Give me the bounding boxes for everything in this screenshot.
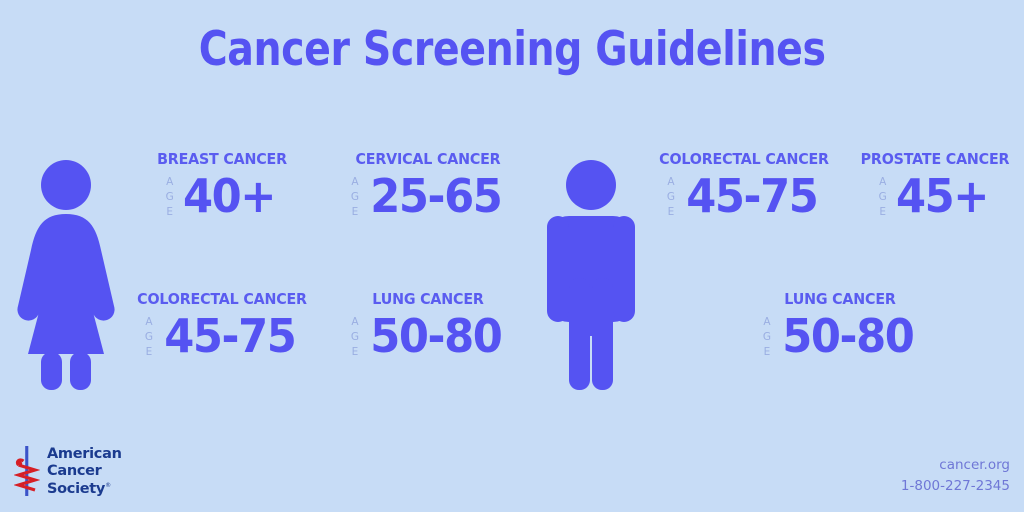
guideline-heading: LUNG CANCER <box>338 292 518 308</box>
page-title-text: Cancer Screening Guidelines <box>199 26 826 73</box>
trademark-mark: ® <box>105 482 111 489</box>
guideline-entry-lung-cancer-male: LUNG CANCER AGE 50-80 <box>740 292 940 360</box>
guideline-age-row: AGE 50-80 <box>740 313 940 361</box>
guideline-heading: CERVICAL CANCER <box>338 152 518 168</box>
male-guidelines-panel: COLORECTAL CANCER AGE 45-75 PROSTATE CAN… <box>644 152 1024 384</box>
guideline-heading: PROSTATE CANCER <box>853 152 1017 168</box>
phone-number[interactable]: 1-800-227-2345 <box>901 476 1010 497</box>
logo-line-1: American <box>47 446 122 463</box>
age-label: AGE <box>166 175 175 221</box>
sword-serpent-icon <box>14 444 40 500</box>
age-value: 50-80 <box>370 313 501 359</box>
guideline-heading: COLORECTAL CANCER <box>652 152 836 168</box>
age-value: 45-75 <box>164 313 295 359</box>
guideline-entry-cervical-cancer: CERVICAL CANCER AGE 25-65 <box>330 152 526 220</box>
guideline-entry-lung-cancer-female: LUNG CANCER AGE 50-80 <box>330 292 526 360</box>
age-label: AGE <box>879 175 888 221</box>
logo-line-3-text: Society <box>47 481 105 497</box>
logo-line-3: Society® <box>47 481 122 498</box>
guideline-entry-prostate-cancer: PROSTATE CANCER AGE 45+ <box>846 152 1024 220</box>
age-label: AGE <box>351 315 360 361</box>
website-link[interactable]: cancer.org <box>901 455 1010 476</box>
guideline-age-row: AGE 50-80 <box>330 313 526 361</box>
guideline-age-row: AGE 45-75 <box>124 313 320 361</box>
american-cancer-society-logo: American Cancer Society® <box>14 444 122 500</box>
male-figure-icon <box>539 158 643 395</box>
age-value: 45-75 <box>686 173 817 219</box>
age-value: 50-80 <box>782 313 913 359</box>
female-figure-icon <box>14 158 118 395</box>
guideline-entry-colorectal-cancer-male: COLORECTAL CANCER AGE 45-75 <box>644 152 844 220</box>
guideline-age-row: AGE 45+ <box>846 173 1024 221</box>
age-value: 40+ <box>183 173 275 219</box>
guideline-age-row: AGE 45-75 <box>644 173 844 221</box>
age-value: 45+ <box>896 173 988 219</box>
guideline-age-row: AGE 25-65 <box>330 173 526 221</box>
logo-wordmark: American Cancer Society® <box>47 446 122 497</box>
female-guidelines-panel: BREAST CANCER AGE 40+ CERVICAL CANCER AG… <box>124 152 524 384</box>
guideline-heading: LUNG CANCER <box>748 292 932 308</box>
age-value: 25-65 <box>370 173 501 219</box>
page-title: Cancer Screening Guidelines <box>0 26 1024 73</box>
logo-line-2: Cancer <box>47 463 122 480</box>
age-label: AGE <box>763 315 772 361</box>
age-label: AGE <box>351 175 360 221</box>
guideline-heading: BREAST CANCER <box>132 152 312 168</box>
guideline-entry-colorectal-cancer-female: COLORECTAL CANCER AGE 45-75 <box>124 292 320 360</box>
guideline-entry-breast-cancer: BREAST CANCER AGE 40+ <box>124 152 320 220</box>
guideline-age-row: AGE 40+ <box>124 173 320 221</box>
contact-info: cancer.org 1-800-227-2345 <box>901 455 1010 497</box>
age-label: AGE <box>667 175 676 221</box>
age-label: AGE <box>145 315 154 361</box>
guideline-heading: COLORECTAL CANCER <box>132 292 312 308</box>
